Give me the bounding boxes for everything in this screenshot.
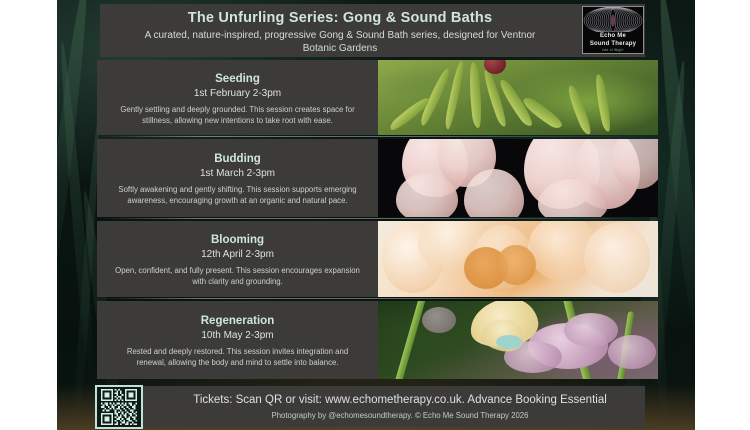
header-text-block: The Unfurling Series: Gong & Sound Baths… <box>100 4 580 57</box>
session-date: 1st February 2-3pm <box>194 87 281 101</box>
session-photo <box>378 139 658 217</box>
page-title: The Unfurling Series: Gong & Sound Baths <box>188 9 492 27</box>
poster-canvas: The Unfurling Series: Gong & Sound Baths… <box>0 0 750 430</box>
row-divider <box>100 136 645 137</box>
session-date: 10th May 2-3pm <box>201 329 273 343</box>
session-photo <box>378 60 658 135</box>
tickets-line[interactable]: Tickets: Scan QR or visit: www.echomethe… <box>193 392 607 408</box>
session-title: Seeding <box>215 72 260 87</box>
session-description: Gently settling and deeply grounded. Thi… <box>113 104 363 126</box>
logo-name-line1: Echo Me <box>600 33 626 40</box>
session-photo <box>378 301 658 379</box>
footer-panel: Tickets: Scan QR or visit: www.echomethe… <box>100 386 645 427</box>
sound-wave-rings-icon <box>582 7 644 32</box>
butterfly-body-icon <box>496 335 522 349</box>
session-text-panel: Seeding 1st February 2-3pm Gently settli… <box>97 60 378 135</box>
session-title: Budding <box>214 152 261 167</box>
session-photo <box>378 221 658 297</box>
credit-line: Photography by @echomesoundtherapy. © Ec… <box>272 410 529 422</box>
session-date: 12th April 2-3pm <box>201 248 274 262</box>
session-row[interactable]: Regeneration 10th May 2-3pm Rested and d… <box>97 301 658 379</box>
booking-qr-code[interactable] <box>95 385 143 429</box>
session-text-panel: Blooming 12th April 2-3pm Open, confiden… <box>97 221 378 297</box>
brand-logo[interactable]: Echo Me Sound Therapy Isle of Wight <box>582 6 644 54</box>
session-description: Rested and deeply restored. This session… <box>113 346 363 368</box>
session-text-panel: Budding 1st March 2-3pm Softly awakening… <box>97 139 378 217</box>
logo-name-line2: Sound Therapy <box>590 41 636 48</box>
page-subtitle: A curated, nature-inspired, progressive … <box>130 29 550 55</box>
footer-text-block: Tickets: Scan QR or visit: www.echomethe… <box>155 386 645 427</box>
session-row[interactable]: Budding 1st March 2-3pm Softly awakening… <box>97 139 658 217</box>
session-title: Blooming <box>211 233 264 248</box>
header-panel: The Unfurling Series: Gong & Sound Baths… <box>100 4 645 57</box>
session-description: Softly awakening and gently shifting. Th… <box>113 184 363 206</box>
row-divider <box>100 218 645 219</box>
session-row[interactable]: Seeding 1st February 2-3pm Gently settli… <box>97 60 658 135</box>
logo-tagline: Isle of Wight <box>602 48 623 53</box>
row-divider <box>100 298 645 299</box>
session-text-panel: Regeneration 10th May 2-3pm Rested and d… <box>97 301 378 379</box>
session-description: Open, confident, and fully present. This… <box>113 265 363 287</box>
session-row[interactable]: Blooming 12th April 2-3pm Open, confiden… <box>97 221 658 297</box>
session-date: 1st March 2-3pm <box>200 167 275 181</box>
session-title: Regeneration <box>201 314 275 329</box>
